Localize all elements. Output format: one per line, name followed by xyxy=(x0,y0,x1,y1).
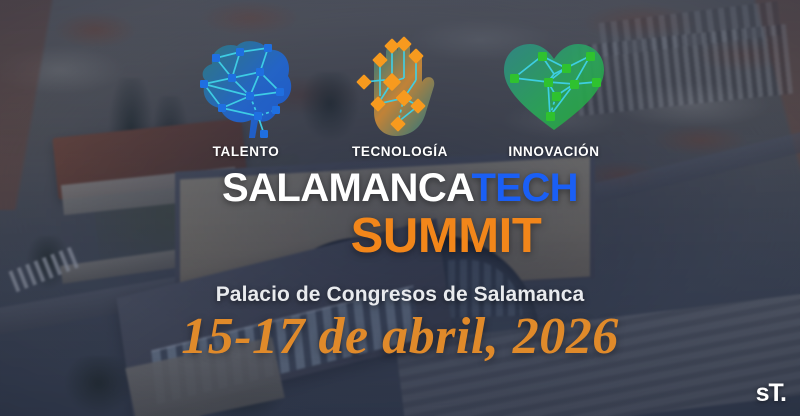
brand-logo: sT. xyxy=(756,381,786,406)
heart-network-icon xyxy=(500,34,608,140)
pillar-label-innovacion: INNOVACIÓN xyxy=(508,144,599,159)
poster-content: TALENTO xyxy=(0,0,800,416)
pillars-row: TALENTO xyxy=(0,34,800,159)
pillar-label-tecnologia: TECNOLOGÍA xyxy=(352,144,448,159)
brain-network-icon xyxy=(192,34,300,140)
event-title-lockup: SALAMANCATECH SUMMIT Palacio de Congreso… xyxy=(0,168,800,365)
pillar-tecnologia: TECNOLOGÍA xyxy=(346,34,454,159)
title-line-one: SALAMANCATECH xyxy=(0,168,800,208)
pillar-talento: TALENTO xyxy=(192,34,300,159)
pillar-label-talento: TALENTO xyxy=(213,144,280,159)
title-summit: SUMMIT xyxy=(0,212,800,261)
event-poster: TALENTO xyxy=(0,0,800,416)
hand-network-icon xyxy=(346,34,454,140)
title-tech: TECH xyxy=(471,166,578,210)
title-salamanca: SALAMANCA xyxy=(222,166,471,210)
pillar-innovacion: INNOVACIÓN xyxy=(500,34,608,159)
event-dates: 15-17 de abril, 2026 xyxy=(0,309,800,365)
venue-name: Palacio de Congresos de Salamanca xyxy=(0,283,800,307)
